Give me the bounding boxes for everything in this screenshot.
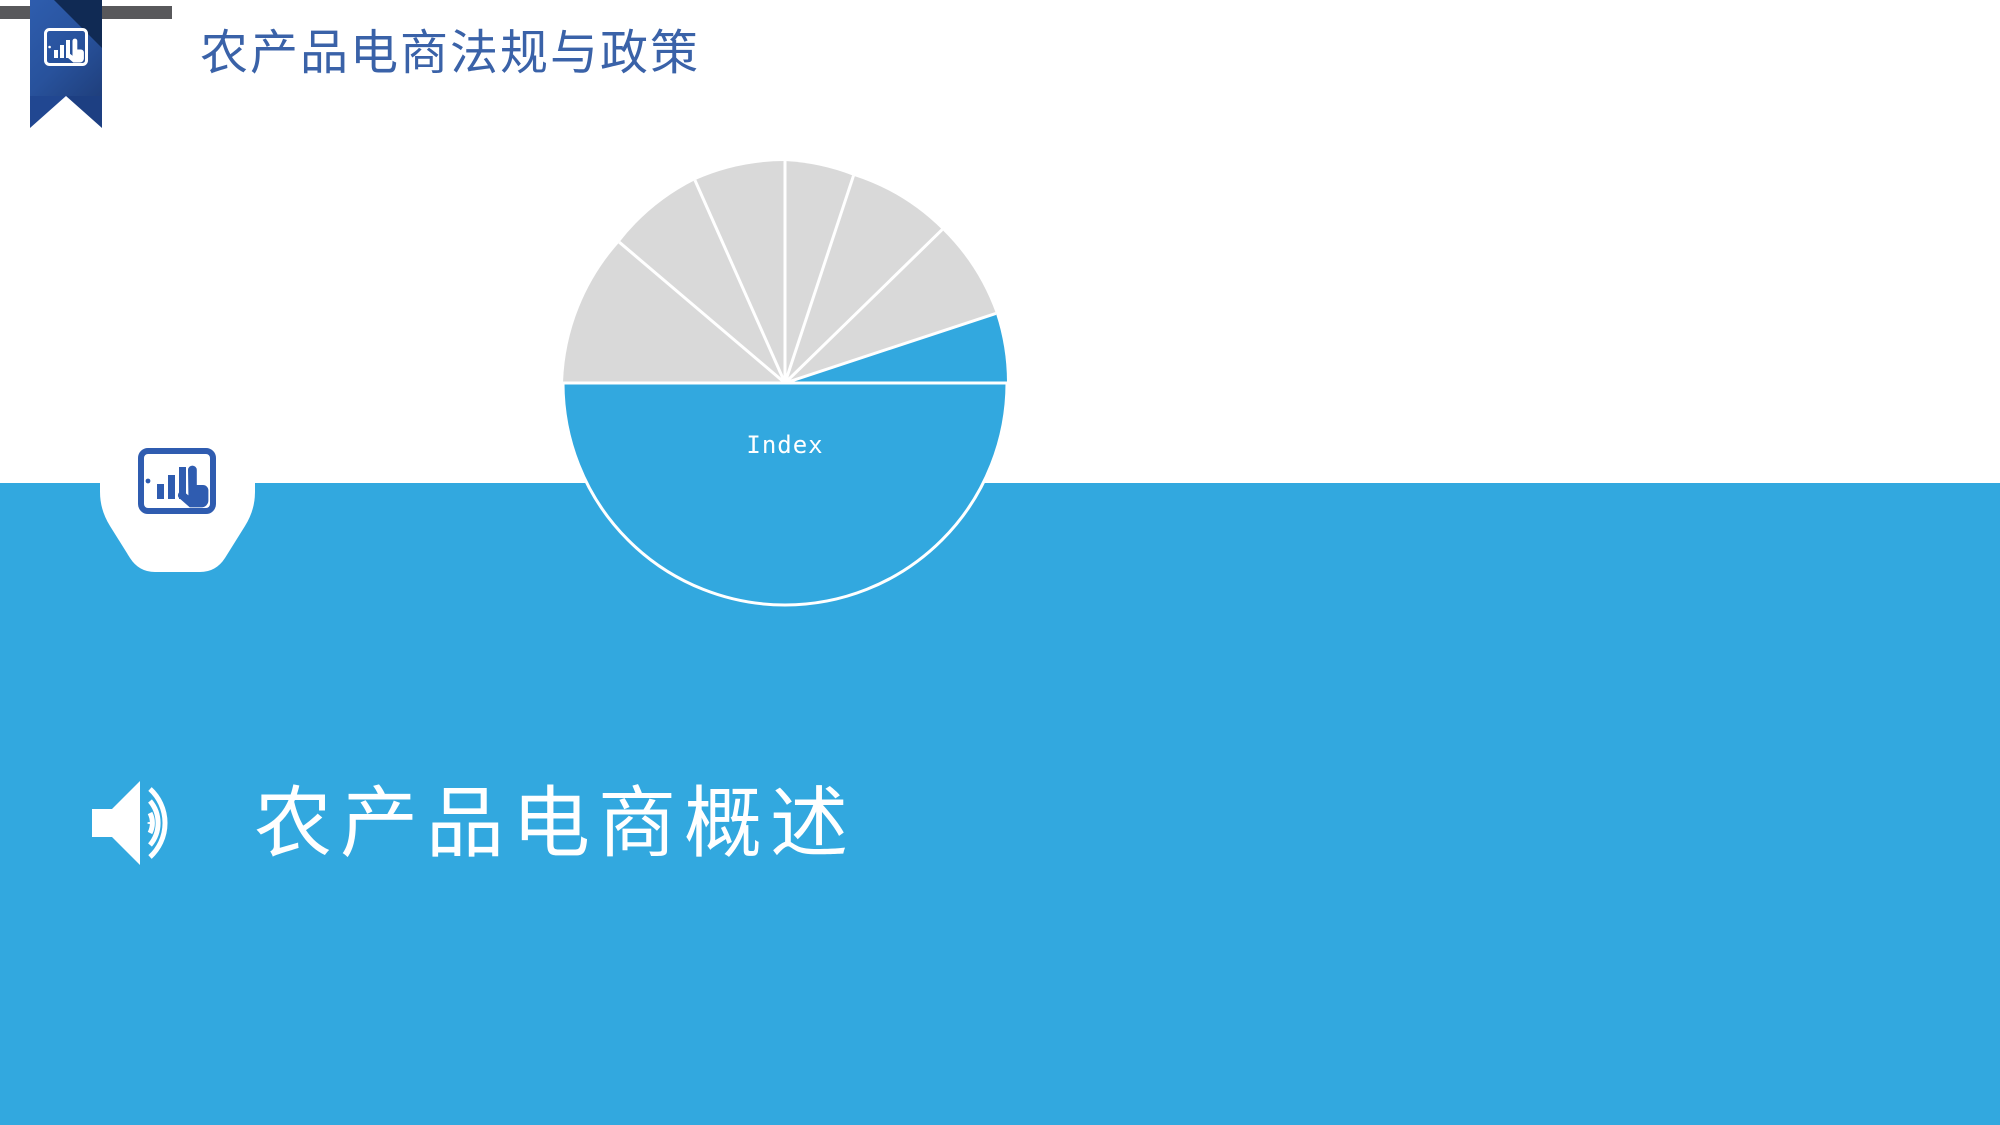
ribbon-tail-right (66, 96, 102, 128)
ribbon-tail-left (30, 96, 66, 128)
page-title: 农产品电商法规与政策 (200, 24, 700, 84)
pie-chart-svg (561, 159, 1009, 607)
speaker-sound-icon (88, 775, 196, 871)
tablet-chart-touch-icon (138, 448, 216, 514)
pie-slice-1 (563, 383, 1007, 605)
header-ribbon (30, 0, 102, 128)
slide-canvas: 农产品电商法规与政策 (0, 0, 2000, 1125)
section-title: 农产品电商概述 (254, 775, 856, 871)
section-title-row: 农产品电商概述 (88, 775, 856, 871)
section-tab-badge[interactable] (100, 410, 255, 580)
tablet-chart-touch-icon (44, 28, 88, 66)
index-pie-chart: Index (561, 159, 1009, 607)
